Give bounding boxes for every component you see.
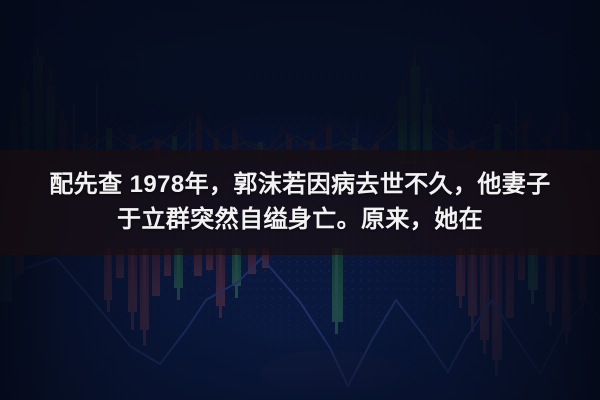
headline-line-2: 于立群突然自缢身亡。原来，她在 [117, 204, 483, 236]
headline-line-1: 配先查 1978年，郭沫若因病去世不久，他妻子 [49, 169, 550, 201]
banner-image: 配先查 1978年，郭沫若因病去世不久，他妻子 于立群突然自缢身亡。原来，她在 [0, 0, 600, 400]
headline-text-block: 配先查 1978年，郭沫若因病去世不久，他妻子 于立群突然自缢身亡。原来，她在 [0, 152, 600, 252]
